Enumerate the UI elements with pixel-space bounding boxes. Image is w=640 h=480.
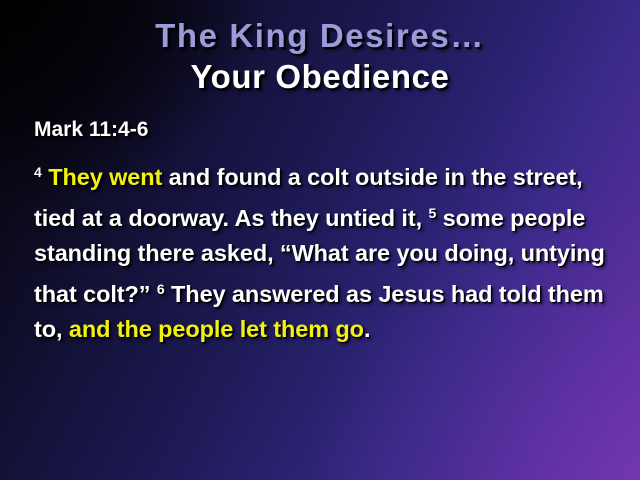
title-line-secondary: Your Obedience <box>0 56 640 98</box>
presentation-slide: The King Desires… Your Obedience Mark 11… <box>0 0 640 480</box>
scripture-passage: 4 They went and found a colt outside in … <box>34 155 614 348</box>
scripture-reference: Mark 11:4-6 <box>34 115 614 145</box>
slide-body: Mark 11:4-6 4 They went and found a colt… <box>34 115 614 348</box>
scripture-segment-4: . <box>364 316 370 342</box>
verse-number-6: 6 <box>157 281 165 297</box>
highlight-phrase-they-went: They went <box>48 164 162 190</box>
slide-title: The King Desires… Your Obedience <box>0 16 640 98</box>
verse-number-4: 4 <box>34 164 42 180</box>
highlight-phrase-let-them-go: and the people let them go <box>69 316 364 342</box>
title-line-primary: The King Desires… <box>0 16 640 56</box>
